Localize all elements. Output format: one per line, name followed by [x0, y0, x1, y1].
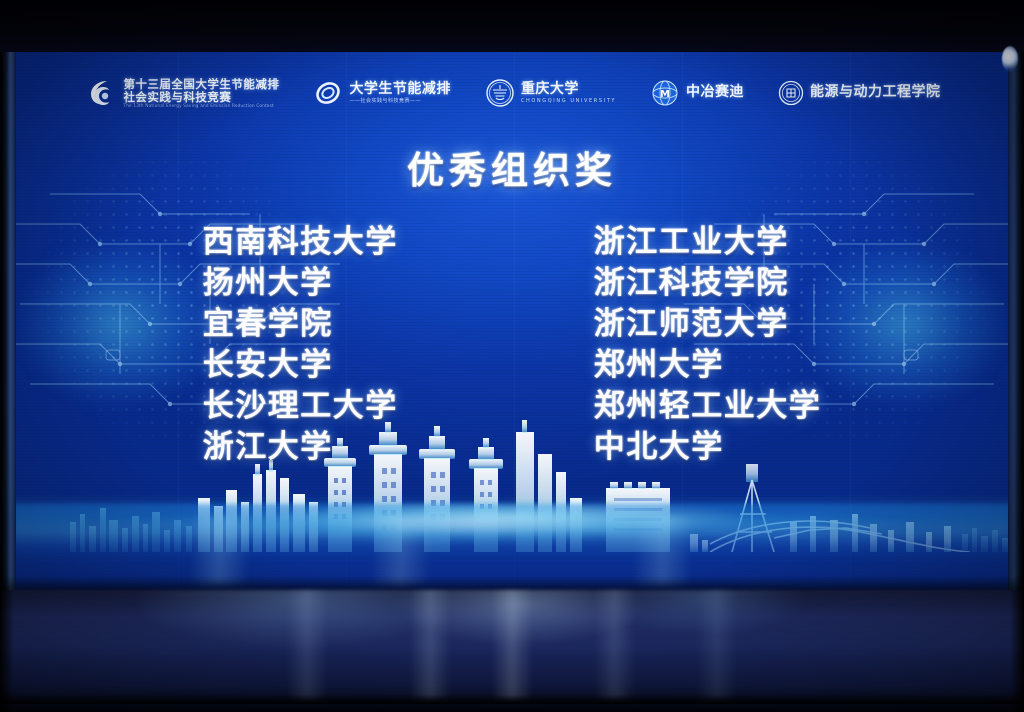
winner-item: 浙江师范大学 — [594, 304, 822, 345]
competition-logo-text: 第十三届全国大学生节能减排 社会实践与科技竞赛 The 13th Nationa… — [123, 78, 279, 109]
winner-item: 浙江工业大学 — [594, 222, 822, 263]
winner-item: 宜春学院 — [203, 304, 398, 345]
winner-item: 浙江科技学院 — [594, 263, 822, 304]
university-logo-line2: CHONGQING UNIVERSITY — [521, 98, 616, 104]
competition-logo-line3: The 13th National Energy Saving and Emis… — [123, 103, 279, 108]
competition-logo-line1: 第十三届全国大学生节能减排 — [123, 78, 279, 91]
floor-front-edge — [0, 694, 1024, 704]
stage-photo: 第十三届全国大学生节能减排 社会实践与科技竞赛 The 13th Nationa… — [0, 0, 1024, 712]
university-logo-line1: 重庆大学 — [521, 82, 616, 98]
school-logo-line1: 能源与动力工程学院 — [810, 85, 941, 101]
competition-logo-line2: 社会实践与科技竞赛 — [123, 91, 279, 104]
program-logo-line1: 大学生节能减排 — [349, 82, 451, 98]
floor-light-streaks — [0, 590, 1024, 700]
led-screen: 第十三届全国大学生节能减排 社会实践与科技竞赛 The 13th Nationa… — [10, 44, 1014, 596]
winners-right-column: 浙江工业大学 浙江科技学院 浙江师范大学 郑州大学 郑州轻工业大学 中北大学 — [594, 222, 822, 468]
program-logo-text: 大学生节能减排 ——社会实践与科技竞赛—— — [349, 82, 451, 104]
right-dark-edge — [1010, 0, 1024, 712]
svg-text:M: M — [660, 89, 670, 100]
award-title: 优秀组织奖 — [10, 140, 1014, 194]
left-dark-edge — [0, 0, 14, 712]
university-logo-text: 重庆大学 CHONGQING UNIVERSITY — [521, 82, 616, 104]
chongqing-university-seal-icon — [485, 78, 515, 108]
sponsor-logo-text: 中冶赛迪 — [686, 85, 744, 101]
winner-item: 扬州大学 — [203, 263, 398, 304]
winner-item: 郑州大学 — [594, 345, 822, 386]
program-logo: 大学生节能减排 ——社会实践与科技竞赛—— — [313, 78, 451, 108]
winners-left-column: 西南科技大学 扬州大学 宜春学院 长安大学 长沙理工大学 浙江大学 — [203, 222, 398, 468]
winner-item: 长沙理工大学 — [203, 386, 398, 427]
ring-logo-icon — [313, 78, 343, 108]
sponsor-logo-line2: 中冶赛迪 — [686, 85, 744, 101]
winner-item: 郑州轻工业大学 — [594, 386, 822, 427]
stage-floor — [0, 590, 1024, 712]
leaf-logo-icon — [83, 76, 117, 110]
winners-list: 西南科技大学 扬州大学 宜春学院 长安大学 长沙理工大学 浙江大学 浙江工业大学… — [10, 222, 1014, 468]
university-logo: 重庆大学 CHONGQING UNIVERSITY — [485, 78, 616, 108]
winner-item: 西南科技大学 — [203, 222, 398, 263]
program-logo-line2: ——社会实践与科技竞赛—— — [349, 98, 451, 105]
hall-ceiling — [0, 0, 1024, 52]
school-seal-icon — [778, 80, 804, 106]
school-logo-text: 能源与动力工程学院 — [810, 85, 941, 101]
stage-lamp-icon — [1002, 46, 1018, 72]
mcc-globe-icon: M — [650, 78, 680, 108]
competition-logo: 第十三届全国大学生节能减排 社会实践与科技竞赛 The 13th Nationa… — [83, 76, 279, 110]
winner-item: 长安大学 — [203, 345, 398, 386]
winner-item: 浙江大学 — [203, 427, 398, 468]
sponsor-logo: M 中冶赛迪 — [650, 78, 744, 108]
school-logo: 能源与动力工程学院 — [778, 80, 941, 106]
sponsor-logo-bar: 第十三届全国大学生节能减排 社会实践与科技竞赛 The 13th Nationa… — [10, 76, 1014, 110]
winner-item: 中北大学 — [594, 427, 822, 468]
